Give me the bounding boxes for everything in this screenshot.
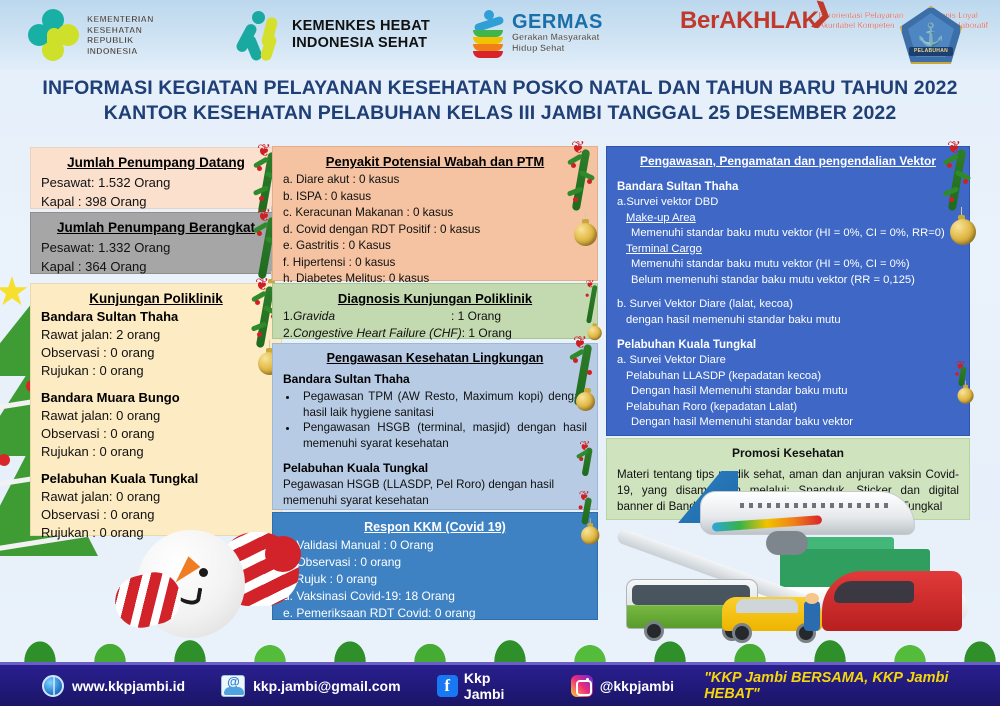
diagnosis-label: Gravida bbox=[293, 309, 335, 323]
vector-subtitle-terminal-cargo: Terminal Cargo bbox=[617, 242, 959, 258]
disease-row: e. Gastritis : 0 Kasus bbox=[283, 238, 587, 255]
environmental-group-text: Pegawasan HSGB (LLASDP, Pel Roro) dengan… bbox=[283, 477, 587, 508]
germas-title: GERMAS bbox=[512, 12, 603, 32]
logo-row: KEMENTERIANKESEHATANREPUBLIKINDONESIA KE… bbox=[0, 0, 1000, 70]
disease-row: d. Covid dengan RDT Positif : 0 kasus bbox=[283, 222, 587, 239]
vector-group-name: Bandara Sultan Thaha bbox=[617, 179, 959, 195]
polyclinic-group: Bandara Muara Bungo Rawat jalan: 0 orang… bbox=[41, 389, 271, 461]
kkm-row: c. Rujuk : 0 orang bbox=[283, 571, 587, 588]
environmental-bullet: Pengawasan HSGB (terminal, masjid) denga… bbox=[299, 420, 587, 451]
berakhlak-title: BerAKHLAK ❯ bbox=[680, 8, 819, 34]
germas-sub1: Gerakan Masyarakat bbox=[512, 32, 603, 43]
vector-subtext: Memenuhi standar baku mutu vektor (HI = … bbox=[617, 226, 959, 242]
diagnosis-row: 1.Gravida : 1 Orang bbox=[283, 308, 587, 325]
arriving-passengers-box: Jumlah Penumpang Datang Pesawat: 1.532 O… bbox=[30, 147, 282, 209]
germas-logo: GERMAS Gerakan Masyarakat Hidup Sehat bbox=[472, 10, 603, 56]
kemenkes-hebat-label: KEMENKES HEBAT INDONESIA SEHAT bbox=[292, 18, 430, 52]
footer-facebook-label: Kkp Jambi bbox=[464, 670, 533, 702]
kkm-response-heading: Respon KKM (Covid 19) bbox=[283, 520, 587, 534]
departing-passengers-box: Jumlah Penumpang Berangkat Pesawat: 1.33… bbox=[30, 212, 282, 274]
disease-row: c. Keracunan Makanan : 0 kasus bbox=[283, 205, 587, 222]
diagnosis-value: : 1 Orang bbox=[451, 308, 501, 325]
departing-passengers-heading: Jumlah Penumpang Berangkat bbox=[41, 220, 271, 235]
diagnosis-label: Congestive Heart Failure (CHF) bbox=[293, 326, 462, 340]
kemenkes-ri-label: KEMENTERIANKESEHATANREPUBLIKINDONESIA bbox=[87, 14, 154, 56]
footer-facebook[interactable]: f Kkp Jambi bbox=[437, 670, 533, 702]
footer-email[interactable]: kkp.jambi@gmail.com bbox=[221, 675, 400, 697]
polyclinic-group: Bandara Sultan Thaha Rawat jalan: 2 oran… bbox=[41, 308, 271, 380]
globe-icon bbox=[42, 675, 64, 697]
vector-surveillance-box: Pengawasan, Pengamatan dan pengendalian … bbox=[606, 146, 970, 436]
polyclinic-row: Observasi : 0 orang bbox=[41, 425, 271, 443]
footer-website[interactable]: www.kkpjambi.id bbox=[42, 675, 185, 697]
ornament-ball-icon bbox=[958, 388, 974, 404]
vector-g2-row-a: a. Survei Vektor Diare bbox=[617, 353, 959, 369]
diagnosis-row: 2.Congestive Heart Failure (CHF): 1 Oran… bbox=[283, 325, 587, 342]
page-title: INFORMASI KEGIATAN PELAYANAN KESEHATAN P… bbox=[0, 76, 1000, 126]
vector-subtext: Belum memenuhi standar baku mutu vektor … bbox=[617, 273, 959, 289]
vector-g2-row: Pelabuhan Roro (kepadatan Lalat) bbox=[617, 400, 959, 416]
ornament-ball-icon bbox=[588, 326, 602, 340]
vector-row-b: b. Survei Vektor Diare (lalat, kecoa) bbox=[617, 297, 959, 313]
departing-kapal-row: Kapal : 364 Orang bbox=[41, 257, 271, 276]
snowman-eye bbox=[199, 568, 208, 577]
vector-g2-row: Pelabuhan LLASDP (kepadatan kecoa) bbox=[617, 369, 959, 385]
arriving-passengers-heading: Jumlah Penumpang Datang bbox=[41, 155, 271, 170]
title-line-2: KANTOR KESEHATAN PELABUHAN KELAS III JAM… bbox=[0, 101, 1000, 126]
snowman-hat-pompom bbox=[265, 536, 301, 572]
arriving-kapal-row: Kapal : 398 Orang bbox=[41, 192, 271, 211]
diagnosis-number: 1. bbox=[283, 309, 293, 323]
environmental-bullet: Pegawasan TPM (AW Resto, Maximum kopi) d… bbox=[299, 389, 587, 420]
vector-g2-row: Dengan hasil Memenuhi standar baku mutu bbox=[617, 384, 959, 400]
potential-diseases-heading: Penyakit Potensial Wabah dan PTM bbox=[283, 154, 587, 169]
facebook-icon: f bbox=[437, 675, 458, 697]
germas-sub2: Hidup Sehat bbox=[512, 43, 603, 54]
star-icon: ★ bbox=[0, 272, 30, 312]
environmental-health-heading: Pengawasan Kesehatan Lingkungan bbox=[283, 351, 587, 365]
footer-website-label: www.kkpjambi.id bbox=[72, 678, 185, 694]
polyclinic-row: Rujukan : 0 orang bbox=[41, 362, 271, 380]
kemenkes-hebat-logo: KEMENKES HEBAT INDONESIA SEHAT bbox=[238, 11, 430, 59]
polyclinic-diagnosis-heading: Diagnosis Kunjungan Poliklinik bbox=[283, 291, 587, 306]
poster-root: KEMENTERIANKESEHATANREPUBLIKINDONESIA KE… bbox=[0, 0, 1000, 706]
polyclinic-visits-heading: Kunjungan Poliklinik bbox=[41, 291, 271, 306]
emblem-icon: ⚓ PELABUHAN bbox=[900, 6, 962, 64]
arriving-pesawat-row: Pesawat: 1.532 Orang bbox=[41, 173, 271, 192]
disease-row: a. Diare akut : 0 kasus bbox=[283, 172, 587, 189]
footer-instagram[interactable]: @kkpjambi bbox=[571, 675, 674, 697]
germas-label: GERMAS Gerakan Masyarakat Hidup Sehat bbox=[512, 12, 603, 54]
polyclinic-row: Rawat jalan: 0 orang bbox=[41, 407, 271, 425]
polyclinic-group-name: Bandara Sultan Thaha bbox=[41, 308, 271, 326]
kkm-row: b. Observasi : 0 orang bbox=[283, 554, 587, 571]
footer-instagram-label: @kkpjambi bbox=[600, 678, 674, 694]
hebat-line2: INDONESIA SEHAT bbox=[292, 35, 427, 51]
emblem-ribbon: PELABUHAN bbox=[909, 47, 953, 56]
vector-row-b-text: dengan hasil memenuhi standar baku mutu bbox=[617, 313, 959, 329]
polyclinic-visits-box: Kunjungan Poliklinik Bandara Sultan Thah… bbox=[30, 283, 282, 536]
vector-group-name: Pelabuhan Kuala Tungkal bbox=[617, 337, 959, 353]
train-window bbox=[834, 581, 914, 603]
instagram-icon bbox=[571, 675, 593, 697]
vector-g2-row: Dengan hasil Memenuhi standar baku vekto… bbox=[617, 415, 959, 431]
polyclinic-row: Rawat jalan: 2 orang bbox=[41, 326, 271, 344]
kkm-response-box: Respon KKM (Covid 19) a. Validasi Manual… bbox=[272, 512, 598, 620]
vector-row-a: a.Survei vektor DBD bbox=[617, 195, 959, 211]
kkm-row: d. Vaksinasi Covid-19: 18 Orang bbox=[283, 588, 587, 605]
clover-icon bbox=[28, 9, 80, 61]
kkp-pelabuhan-emblem: ⚓ PELABUHAN bbox=[900, 6, 962, 64]
polyclinic-group-name: Pelabuhan Kuala Tungkal bbox=[41, 470, 271, 488]
polyclinic-row: Rawat jalan: 0 orang bbox=[41, 488, 271, 506]
polyclinic-row: Rujukan : 0 orang bbox=[41, 443, 271, 461]
worker-head bbox=[805, 593, 819, 604]
polyclinic-diagnosis-box: Diagnosis Kunjungan Poliklinik 1.Gravida… bbox=[272, 283, 598, 339]
polyclinic-row: Observasi : 0 orang bbox=[41, 344, 271, 362]
departing-pesawat-row: Pesawat: 1.332 Orang bbox=[41, 238, 271, 257]
environmental-health-supervision-box: Pengawasan Kesehatan Lingkungan Bandara … bbox=[272, 343, 598, 510]
airplane-windows bbox=[740, 503, 890, 508]
email-icon bbox=[221, 675, 245, 697]
germas-mark-icon bbox=[472, 10, 506, 56]
health-promotion-heading: Promosi Kesehatan bbox=[617, 446, 959, 460]
diagnosis-number: 2. bbox=[283, 326, 293, 340]
diagnosis-value: : 1 Orang bbox=[462, 326, 512, 340]
pine-branch-border bbox=[0, 606, 1000, 662]
vector-subtext: Memenuhi standar baku mutu vektor (HI = … bbox=[617, 257, 959, 273]
footer-slogan: "KKP Jambi BERSAMA, KKP Jambi HEBAT" bbox=[704, 670, 1000, 702]
anchor-icon: ⚓ bbox=[917, 22, 944, 48]
title-line-1: INFORMASI KEGIATAN PELAYANAN KESEHATAN P… bbox=[0, 76, 1000, 101]
disease-row: b. ISPA : 0 kasus bbox=[283, 189, 587, 206]
kkm-row: a. Validasi Manual : 0 Orang bbox=[283, 537, 587, 554]
potential-diseases-box: Penyakit Potensial Wabah dan PTM a. Diar… bbox=[272, 146, 598, 281]
running-person-icon bbox=[238, 11, 284, 59]
berakhlak-title-text: BerAKHLAK bbox=[680, 7, 819, 34]
vector-subtitle-makeup-area: Make-up Area bbox=[617, 211, 959, 227]
environmental-group-name: Bandara Sultan Thaha bbox=[283, 371, 587, 388]
hebat-line1: KEMENKES HEBAT bbox=[292, 18, 430, 34]
footer-email-label: kkp.jambi@gmail.com bbox=[253, 678, 400, 694]
kemenkes-ri-logo: KEMENTERIANKESEHATANREPUBLIKINDONESIA bbox=[28, 9, 154, 61]
footer-bar: www.kkpjambi.id kkp.jambi@gmail.com f Kk… bbox=[0, 662, 1000, 706]
polyclinic-group-name: Bandara Muara Bungo bbox=[41, 389, 271, 407]
disease-row: f. Hipertensi : 0 kasus bbox=[283, 255, 587, 272]
airplane-engine bbox=[766, 531, 808, 555]
environmental-bullet-list: Pegawasan TPM (AW Resto, Maximum kopi) d… bbox=[299, 389, 587, 451]
vector-surveillance-heading: Pengawasan, Pengamatan dan pengendalian … bbox=[617, 154, 959, 168]
environmental-group-name: Pelabuhan Kuala Tungkal bbox=[283, 460, 587, 477]
